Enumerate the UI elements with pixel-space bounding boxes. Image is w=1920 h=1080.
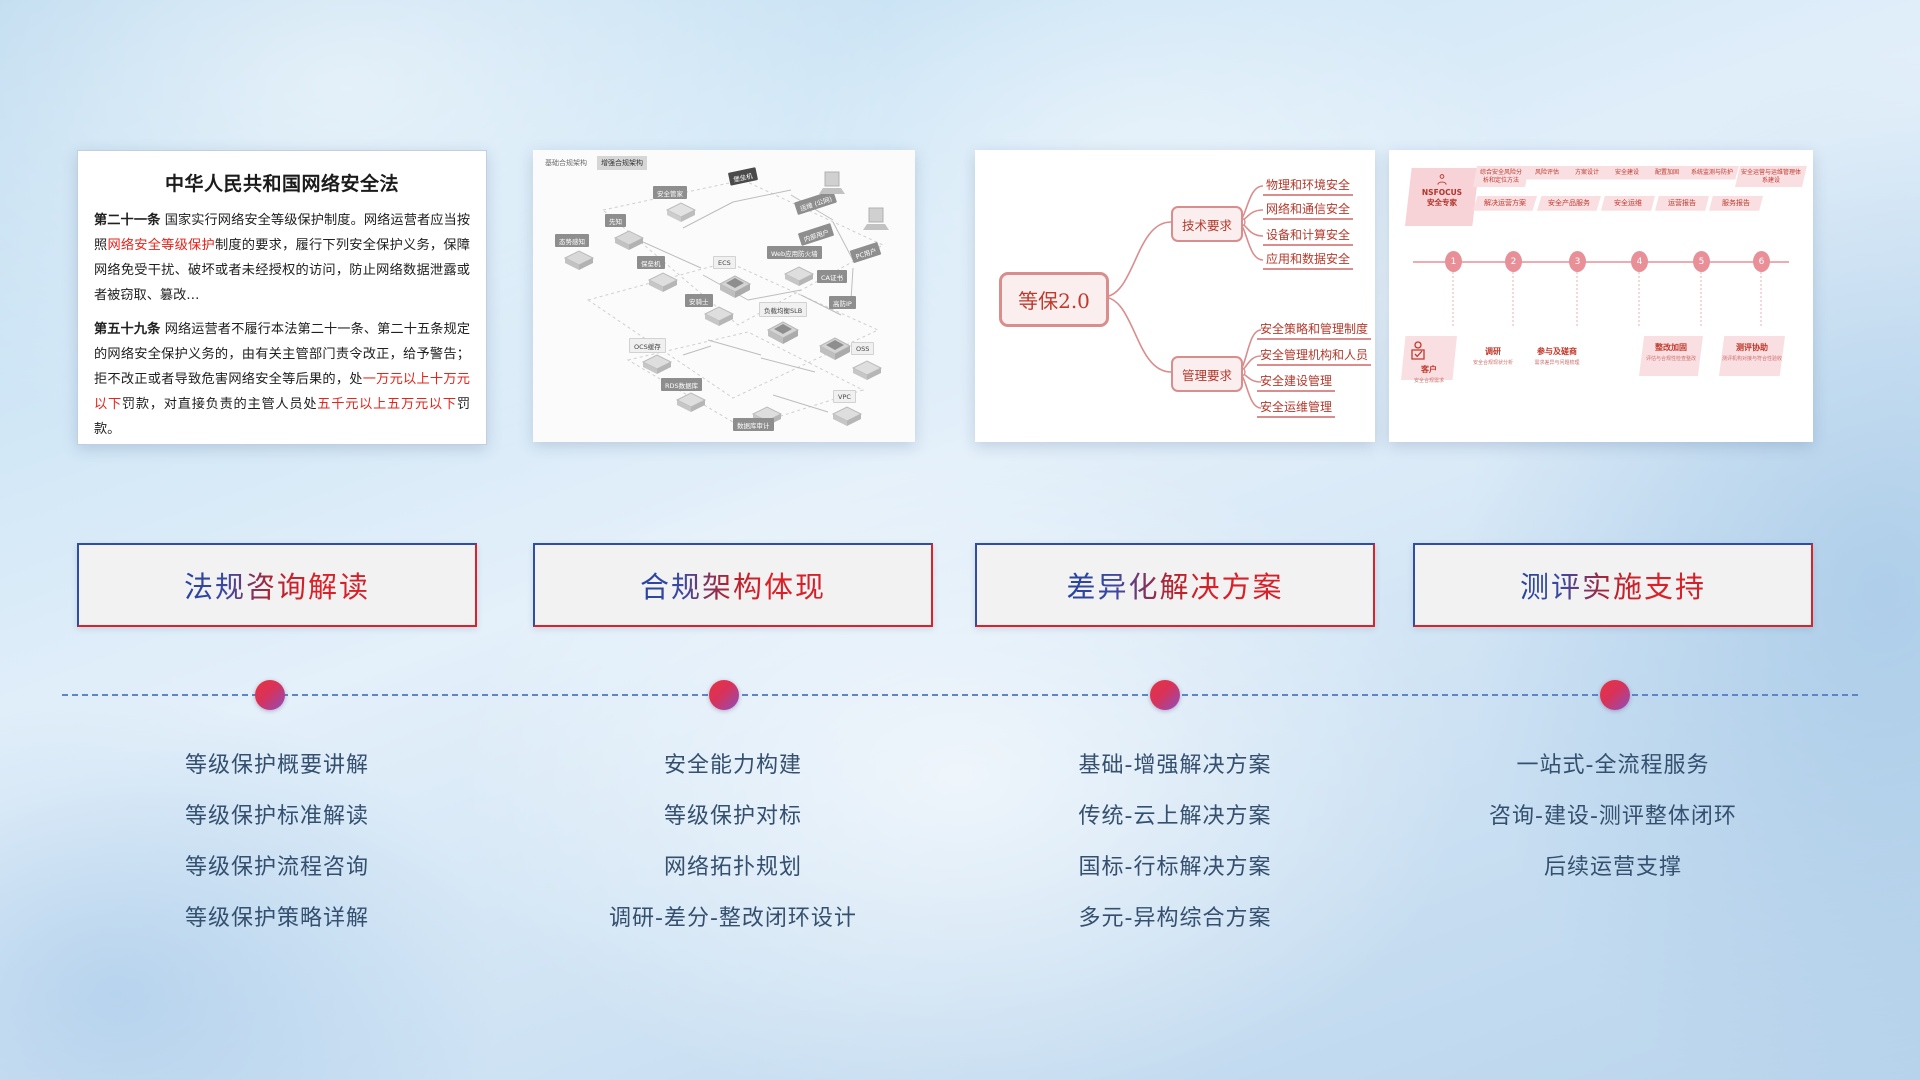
timeline-dot-0[interactable]: [255, 680, 285, 710]
node-agent-security: 安骑士: [685, 294, 713, 307]
nsfocus-step-1: 1: [1445, 251, 1462, 272]
list-item: 多元-异构综合方案: [975, 893, 1375, 944]
list-item: 等级保护对标: [533, 791, 933, 842]
bottom-item-0-title: 调研: [1465, 346, 1521, 357]
timeline-dot-3[interactable]: [1600, 680, 1630, 710]
mindmap-root: 等保2.0: [999, 272, 1109, 327]
customer-title: 客户: [1403, 364, 1455, 375]
feature-list-1: 安全能力构建 等级保护对标 网络拓扑规划 调研-差分-整改闭环设计: [533, 740, 933, 944]
customer-person-icon: [1409, 340, 1427, 362]
mindmap-leaf-tech-1: 网络和通信安全: [1263, 200, 1353, 220]
node-ocs-cache: OCS缓存: [629, 338, 666, 353]
mindmap-leaf-mgmt-1: 安全管理机构和人员: [1257, 346, 1371, 366]
mindmap-leaf-tech-2: 设备和计算安全: [1263, 226, 1353, 246]
mindmap-leaf-mgmt-0: 安全策略和管理制度: [1257, 320, 1371, 340]
nsfocus-step-2: 2: [1505, 251, 1522, 272]
timeline-dot-2[interactable]: [1150, 680, 1180, 710]
heading-label-0: 法规咨询解读: [184, 564, 370, 606]
list-item: 安全能力构建: [533, 740, 933, 791]
timeline-dashed-line: [62, 694, 1858, 696]
heading-label-2: 差异化解决方案: [1066, 564, 1283, 606]
list-item: 网络拓扑规划: [533, 842, 933, 893]
nsfocus-bottom-item-1: 参与及磋商 需求差异与问题梳理: [1525, 346, 1589, 366]
list-item: 等级保护概要讲解: [77, 740, 477, 791]
timeline-dot-1[interactable]: [709, 680, 739, 710]
node-load-balancer: 负载均衡SLB: [759, 302, 807, 317]
heading-box-regulation-consulting[interactable]: 法规咨询解读: [77, 543, 477, 627]
customer-subtitle: 安全合规需求: [1403, 377, 1455, 384]
bottom-item-1-sub: 需求差异与问题梳理: [1525, 359, 1589, 366]
nsfocus-timeline-line: [1389, 150, 1813, 442]
node-waf: Web应用防火墙: [767, 246, 822, 259]
mindmap-leaf-mgmt-3: 安全运维管理: [1257, 398, 1335, 418]
node-rds-database: RDS数据库: [661, 378, 702, 391]
section-headings-row: 法规咨询解读 合规架构体现 差异化解决方案 测评实施支持: [0, 543, 1920, 638]
mindmap-leaf-tech-0: 物理和环境安全: [1263, 176, 1353, 196]
node-situational-awareness: 态势感知: [555, 234, 589, 247]
node-anti-ddos: 高防IP: [829, 296, 856, 309]
article-59-fine-2: 五千元以上五万元以下: [317, 397, 457, 412]
law-article-59: 第五十九条 网络运营者不履行本法第二十一条、第二十五条规定的网络安全保护义务的，…: [94, 317, 470, 442]
preview-cards-row: 中华人民共和国网络安全法 第二十一条 国家实行网络安全等级保护制度。网络运营者应…: [0, 150, 1920, 450]
list-item: 一站式-全流程服务: [1413, 740, 1813, 791]
bottom-item-2-title: 整改加固: [1641, 342, 1701, 353]
nsfocus-step-3: 3: [1569, 251, 1586, 272]
article-21-label: 第二十一条: [94, 213, 160, 228]
nsfocus-step-4: 4: [1631, 251, 1648, 272]
node-xianzhi: 先知: [605, 214, 626, 227]
list-item: 传统-云上解决方案: [975, 791, 1375, 842]
card-cybersecurity-law[interactable]: 中华人民共和国网络安全法 第二十一条 国家实行网络安全等级保护制度。网络运营者应…: [77, 150, 487, 445]
nsfocus-bottom-item-2: 整改加固 评估与合规性检查整改: [1641, 342, 1701, 362]
law-title: 中华人民共和国网络安全法: [94, 169, 470, 196]
nsfocus-bottom-item-0: 调研 安全合规现状分析: [1465, 346, 1521, 366]
bottom-item-1-title: 参与及磋商: [1525, 346, 1589, 357]
article-59-text-b: 罚款，对直接负责的主管人员处: [122, 397, 317, 412]
heading-label-1: 合规架构体现: [640, 564, 826, 606]
heading-box-evaluation-support[interactable]: 测评实施支持: [1413, 543, 1813, 627]
list-item: 国标-行标解决方案: [975, 842, 1375, 893]
nsfocus-bottom-item-3: 测评协助 测评机构对接与符合性验收: [1721, 342, 1783, 362]
node-security-butler: 安全管家: [653, 186, 687, 199]
nsfocus-step-5: 5: [1693, 251, 1710, 272]
bottom-item-3-sub: 测评机构对接与符合性验收: [1721, 355, 1783, 362]
feature-list-3: 一站式-全流程服务 咨询-建设-测评整体闭环 后续运营支撑: [1413, 740, 1813, 893]
list-item: 等级保护策略详解: [77, 893, 477, 944]
heading-box-differentiated-solution[interactable]: 差异化解决方案: [975, 543, 1375, 627]
mindmap-branch-technical: 技术要求: [1171, 206, 1243, 242]
nsfocus-step-6: 6: [1753, 251, 1770, 272]
heading-label-3: 测评实施支持: [1520, 564, 1706, 606]
heading-box-compliance-architecture[interactable]: 合规架构体现: [533, 543, 933, 627]
list-item: 等级保护流程咨询: [77, 842, 477, 893]
mindmap-leaf-tech-3: 应用和数据安全: [1263, 250, 1353, 270]
list-item: 基础-增强解决方案: [975, 740, 1375, 791]
node-oss: OSS: [851, 342, 874, 355]
list-item: 调研-差分-整改闭环设计: [533, 893, 933, 944]
feature-lists-row: 等级保护概要讲解 等级保护标准解读 等级保护流程咨询 等级保护策略详解 安全能力…: [0, 740, 1920, 990]
list-item: 咨询-建设-测评整体闭环: [1413, 791, 1813, 842]
bottom-item-2-sub: 评估与合规性检查整改: [1641, 355, 1701, 362]
article-21-highlight: 网络安全等级保护: [107, 238, 215, 253]
node-bastion-host: 保垒机: [637, 256, 665, 269]
list-item: 后续运营支撑: [1413, 842, 1813, 893]
nsfocus-customer-label: 客户 安全合规需求: [1403, 364, 1455, 384]
list-item: 等级保护标准解读: [77, 791, 477, 842]
mindmap-leaf-mgmt-2: 安全建设管理: [1257, 372, 1335, 392]
feature-list-0: 等级保护概要讲解 等级保护标准解读 等级保护流程咨询 等级保护策略详解: [77, 740, 477, 944]
law-article-21: 第二十一条 国家实行网络安全等级保护制度。网络运营者应当按照网络安全等级保护制度…: [94, 208, 470, 308]
bottom-item-3-title: 测评协助: [1721, 342, 1783, 353]
feature-list-2: 基础-增强解决方案 传统-云上解决方案 国标-行标解决方案 多元-异构综合方案: [975, 740, 1375, 944]
article-59-label: 第五十九条: [94, 322, 160, 337]
bottom-item-0-sub: 安全合规现状分析: [1465, 359, 1521, 366]
node-ca-certificate: CA证书: [817, 270, 847, 283]
card-nsfocus-service-flow[interactable]: NSFOCUS 安全专家 综合安全风险分析和定位方法 风险评估 方案设计 安全建…: [1389, 150, 1813, 442]
node-database-audit: 数据库审计: [733, 418, 774, 431]
node-ecs: ECS: [713, 256, 736, 269]
card-compliance-architecture[interactable]: 基础合规架构 增强合规架构: [533, 150, 915, 442]
mindmap-branch-management: 管理要求: [1171, 356, 1243, 392]
card-dengbao-mindmap[interactable]: 等保2.0 技术要求 管理要求 物理和环境安全 网络和通信安全 设备和计算安全 …: [975, 150, 1375, 442]
